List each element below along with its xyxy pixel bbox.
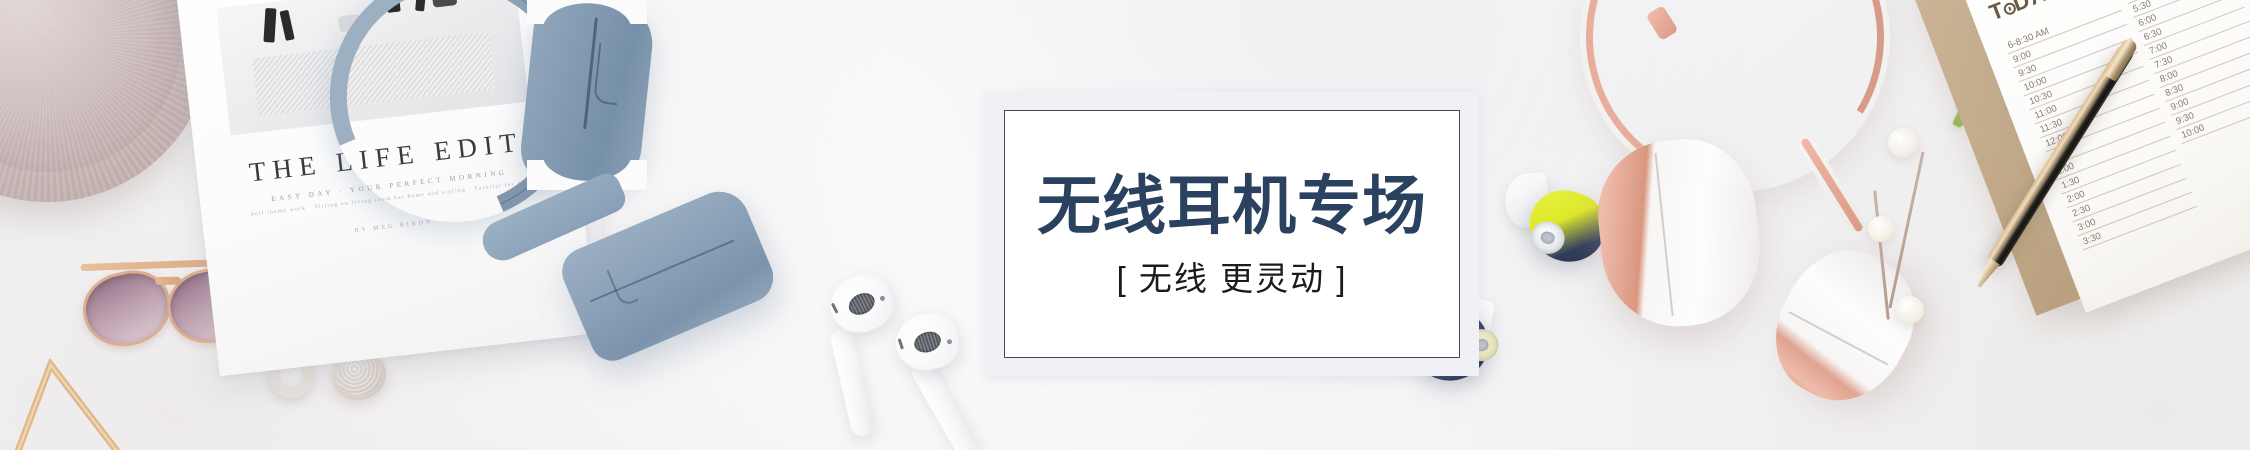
magazine-photo-object [263,8,276,43]
sunglasses-bridge [155,277,181,285]
promo-text-panel[interactable]: 无线耳机专场 [ 无线 更灵动 ] [1004,110,1460,358]
promo-text-frame[interactable]: 无线耳机专场 [ 无线 更灵动 ] [985,92,1479,376]
promo-headline: 无线耳机专场 [1037,174,1427,238]
dried-blossom [1888,128,1918,158]
promo-subline: [ 无线 更灵动 ] [1117,262,1348,295]
magazine-photo-object [279,10,294,41]
blue-earcup-notch-top [527,0,647,24]
dried-blossom [1868,216,1894,242]
promo-banner[interactable]: THE LIFE EDIT EASY DAY · YOUR PERFECT MO… [0,0,2250,450]
dried-blossom [1896,296,1924,324]
